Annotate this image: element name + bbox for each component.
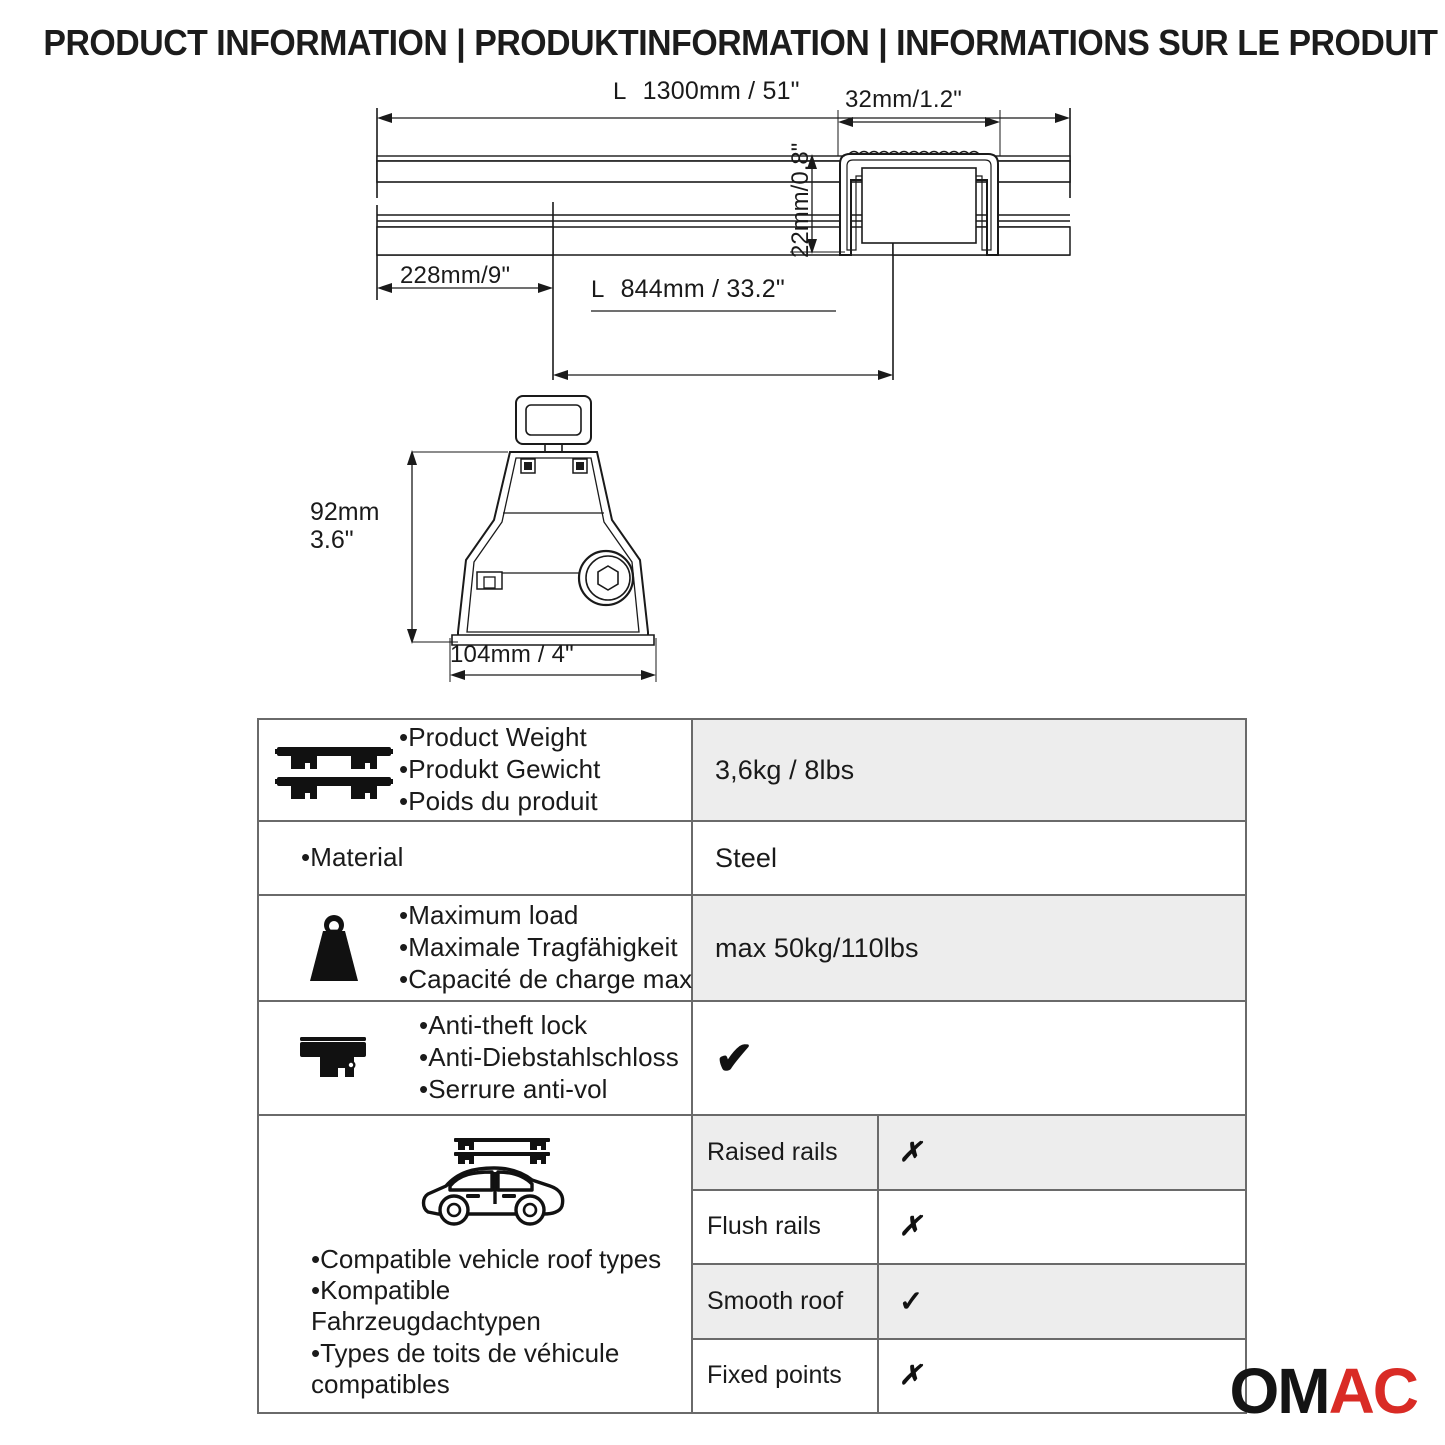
subrow-name: Flush rails	[693, 1191, 879, 1264]
subrow-fixed-points: Fixed points ✗	[693, 1340, 1245, 1413]
label-line-de: •Anti-Diebstahlschloss	[419, 1042, 685, 1074]
label-line-en: •Anti-theft lock	[419, 1010, 685, 1042]
span-length-label: L844mm / 33.2"	[591, 275, 785, 304]
cross-icon: ✗	[899, 1137, 922, 1168]
table-row-maximum-load: •Maximum load •Maximale Tragfähigkeit •C…	[259, 896, 1245, 1002]
span-marker: L	[591, 276, 605, 303]
label-cell-roof-types: •Compatible vehicle roof types •Kompatib…	[259, 1116, 693, 1412]
subrow-value: ✓	[879, 1265, 1245, 1338]
logo-text-ac: AC	[1329, 1359, 1417, 1423]
label-text-anti-theft-lock: •Anti-theft lock •Anti-Diebstahlschloss …	[399, 1010, 685, 1105]
table-row-material: •Material Steel	[259, 822, 1245, 896]
subrow-flush-rails: Flush rails ✗	[693, 1191, 1245, 1266]
label-line-fr-cont: compatibles	[311, 1369, 685, 1400]
profile-width-label: 32mm/1.2"	[845, 86, 962, 114]
foot-offset-label: 228mm/9"	[400, 262, 510, 290]
label-line-en: •Compatible vehicle roof types	[311, 1244, 685, 1275]
length-marker: L	[613, 78, 627, 105]
omac-logo: OMAC	[1229, 1359, 1417, 1423]
label-line-de: •Kompatible Fahrzeugdachtypen	[311, 1275, 685, 1337]
subrow-value: ✗	[879, 1191, 1245, 1264]
label-cell-maximum-load: •Maximum load •Maximale Tragfähigkeit •C…	[259, 896, 693, 1000]
subrow-name: Raised rails	[693, 1116, 879, 1189]
technical-drawing: L1300mm / 51" 228mm/9" L844mm / 33.2" 92…	[0, 80, 1445, 700]
table-row-anti-theft-lock: •Anti-theft lock •Anti-Diebstahlschloss …	[259, 1002, 1245, 1116]
subrow-smooth-roof: Smooth roof ✓	[693, 1265, 1245, 1340]
crossbars-icon	[269, 741, 399, 799]
label-text-roof-types: •Compatible vehicle roof types •Kompatib…	[269, 1230, 685, 1400]
subrow-value: ✗	[879, 1340, 1245, 1413]
label-line-en: •Material	[301, 842, 685, 874]
subrow-raised-rails: Raised rails ✗	[693, 1116, 1245, 1191]
label-cell-product-weight: •Product Weight •Produkt Gewicht •Poids …	[259, 720, 693, 820]
subrow-name: Fixed points	[693, 1340, 879, 1413]
product-information-sheet: PRODUCT INFORMATION | PRODUKTINFORMATION…	[0, 0, 1445, 1445]
foot-width-label: 104mm / 4"	[450, 641, 574, 669]
label-cell-material: •Material	[259, 822, 693, 894]
value-cell-product-weight: 3,6kg / 8lbs	[693, 720, 1245, 820]
table-row-roof-types: •Compatible vehicle roof types •Kompatib…	[259, 1116, 1245, 1412]
label-line-fr: •Poids du produit	[399, 786, 685, 818]
roof-label-inner: •Compatible vehicle roof types •Kompatib…	[269, 1128, 685, 1400]
table-row-product-weight: •Product Weight •Produkt Gewicht •Poids …	[259, 720, 1245, 822]
value-cell-material: Steel	[693, 822, 1245, 894]
overall-length-label: L1300mm / 51"	[613, 77, 800, 106]
overall-length-value: 1300mm / 51"	[643, 77, 800, 105]
label-text-material: •Material	[269, 842, 685, 874]
profile-height-label: 22mm/0.8"	[787, 143, 815, 258]
car-with-roofrack-icon	[269, 1134, 685, 1230]
page-title: PRODUCT INFORMATION | PRODUKTINFORMATION…	[43, 22, 1401, 64]
label-line-fr: •Serrure anti-vol	[419, 1074, 685, 1106]
label-line-fr: •Types de toits de véhicule	[311, 1338, 685, 1369]
value-cell-anti-theft-lock: ✔	[693, 1002, 1245, 1114]
subrow-value: ✗	[879, 1116, 1245, 1189]
label-text-product-weight: •Product Weight •Produkt Gewicht •Poids …	[399, 722, 685, 817]
specification-table: •Product Weight •Produkt Gewicht •Poids …	[257, 718, 1247, 1414]
span-length-value: 844mm / 33.2"	[621, 275, 785, 303]
weight-icon	[269, 913, 399, 983]
value-cell-maximum-load: max 50kg/110lbs	[693, 896, 1245, 1000]
label-line-de: •Produkt Gewicht	[399, 754, 685, 786]
drawing-svg	[0, 80, 1445, 700]
cross-icon: ✗	[899, 1360, 922, 1391]
checkmark-icon: ✔	[715, 1035, 754, 1081]
logo-text-om: OM	[1229, 1359, 1328, 1423]
lock-icon	[269, 1035, 399, 1081]
subrow-name: Smooth roof	[693, 1265, 879, 1338]
label-cell-anti-theft-lock: •Anti-theft lock •Anti-Diebstahlschloss …	[259, 1002, 693, 1114]
checkmark-icon: ✓	[899, 1284, 923, 1319]
label-line-en: •Product Weight	[399, 722, 685, 754]
foot-height-mm: 92mm	[310, 498, 379, 526]
cross-icon: ✗	[899, 1211, 922, 1242]
roof-types-subtable: Raised rails ✗ Flush rails ✗ Smooth roof…	[693, 1116, 1245, 1412]
foot-height-label: 92mm 3.6"	[310, 498, 379, 554]
foot-height-in: 3.6"	[310, 526, 379, 554]
